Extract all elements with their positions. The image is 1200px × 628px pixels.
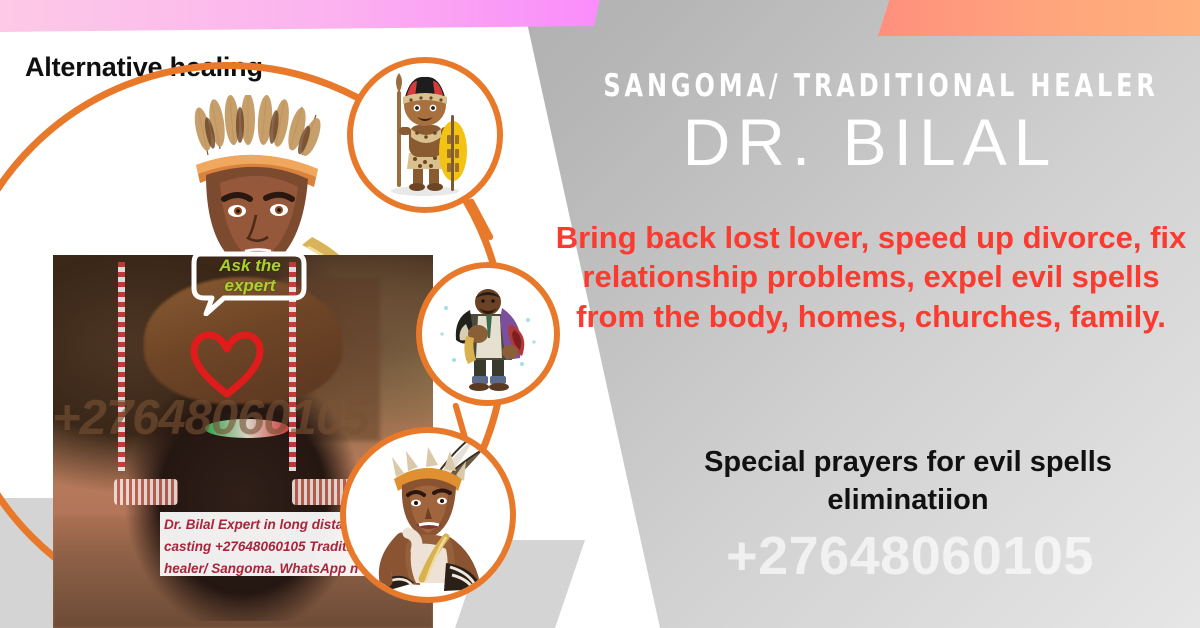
promotional-poster: Alternative healing [0, 0, 1200, 628]
services-description: Bring back lost lover, speed up divorce,… [548, 218, 1194, 336]
doctor-name-title: DR. BILAL [560, 104, 1180, 180]
circle-badge-traditional-healer [416, 262, 560, 406]
pink-top-bar [0, 0, 600, 34]
speech-bubble-text: Ask the expert [204, 256, 296, 296]
circle-badge-sangoma-dancer [340, 427, 516, 603]
kicker-headline: SANGOMA/ TRADITIONAL HEALER [603, 68, 1136, 104]
phone-number-watermark: +27648060105 [620, 525, 1200, 587]
traditional-healer-figure-icon [422, 268, 554, 400]
orange-top-bar [878, 0, 1200, 38]
circle-badge-zulu-warrior [347, 57, 503, 213]
photo-armband-left [114, 479, 179, 505]
heart-icon [190, 330, 264, 398]
zulu-warrior-cartoon-icon [353, 63, 497, 207]
sangoma-dancer-icon [346, 433, 510, 597]
special-prayers-text: Special prayers for evil spells eliminat… [620, 443, 1196, 520]
